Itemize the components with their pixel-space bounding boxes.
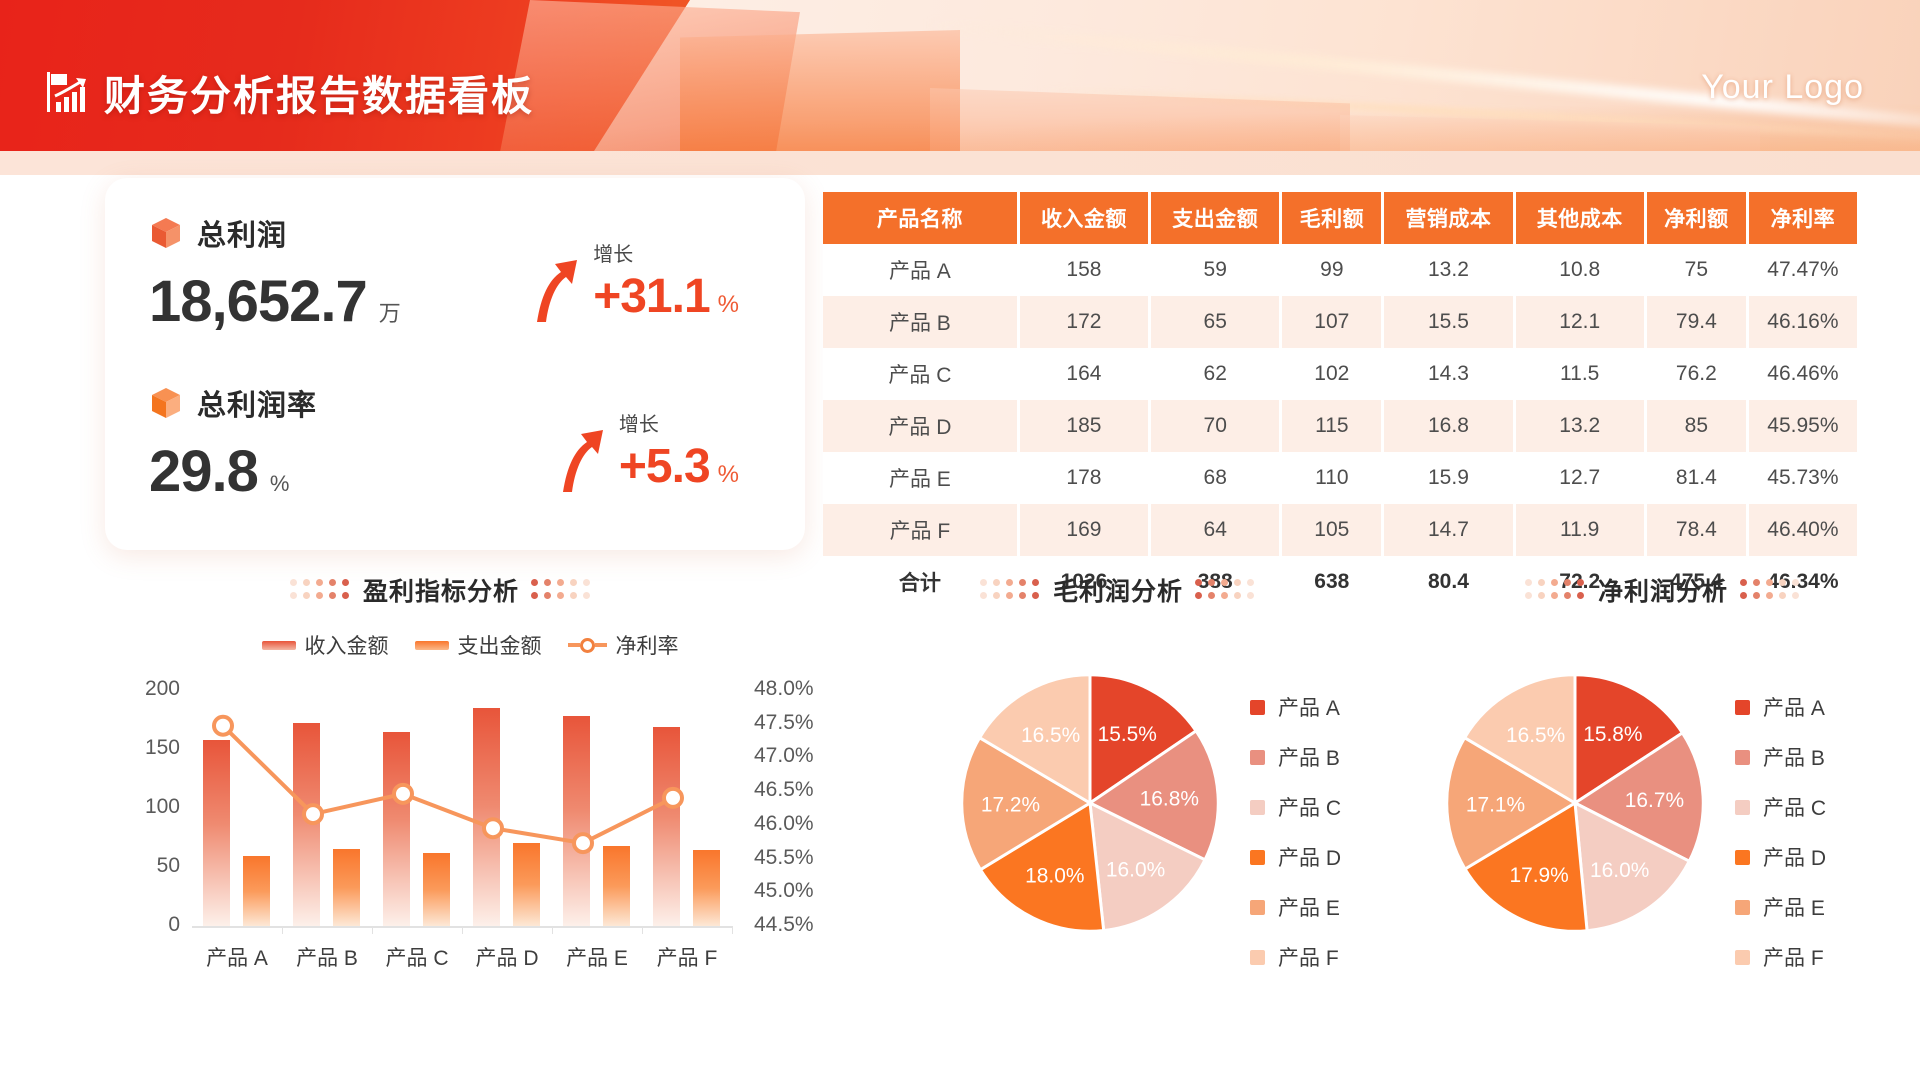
section-title-text: 净利润分析 (1598, 572, 1728, 608)
legend-label: 产品 F (1763, 942, 1824, 972)
legend-swatch (1735, 700, 1750, 715)
x-axis-label: 产品 B (275, 942, 379, 972)
legend-label: 收入金额 (305, 630, 389, 660)
table-cell: 14.7 (1384, 504, 1512, 556)
legend-label: 产品 D (1763, 842, 1826, 872)
x-axis-tick (282, 926, 283, 934)
table-header-cell: 收入金额 (1020, 192, 1148, 244)
legend-label: 净利率 (616, 630, 679, 660)
bar-income[interactable] (653, 727, 680, 926)
bar-income[interactable] (383, 732, 410, 926)
table-cell: 75 (1647, 244, 1746, 296)
table-cell: 78.4 (1647, 504, 1746, 556)
arrow-up-icon (525, 246, 583, 324)
net-profit-pie-chart: 15.8%16.7%16.0%17.9%17.1%16.5% 产品 A 产品 B… (1430, 630, 1920, 1010)
pie-legend-item[interactable]: 产品 D (1735, 842, 1826, 872)
bar-income[interactable] (293, 723, 320, 926)
pie-legend-item[interactable]: 产品 E (1735, 892, 1826, 922)
pie-canvas: 15.5%16.8%16.0%18.0%17.2%16.5% (955, 668, 1225, 938)
y2-axis-tick-label: 45.0% (754, 879, 830, 903)
pie-slice-label: 15.5% (1098, 723, 1157, 746)
y2-axis-tick-label: 46.5% (754, 778, 830, 802)
table-cell: 178 (1020, 452, 1148, 504)
table-header-cell: 净利率 (1749, 192, 1857, 244)
legend-label: 产品 E (1763, 892, 1825, 922)
pie-legend-item[interactable]: 产品 B (1250, 742, 1341, 772)
pie-legend-item[interactable]: 产品 C (1735, 792, 1826, 822)
table-cell: 64 (1151, 504, 1279, 556)
x-axis-tick (732, 926, 733, 934)
table-cell: 12.7 (1516, 452, 1644, 504)
legend-label: 产品 C (1278, 792, 1341, 822)
table-cell: 15.5 (1384, 296, 1512, 348)
dot-grid-icon (980, 579, 1041, 601)
bar-expense[interactable] (603, 846, 630, 926)
bar-expense[interactable] (333, 849, 360, 926)
legend-label: 产品 F (1278, 942, 1339, 972)
y-axis-tick-label: 50 (128, 854, 180, 878)
pie-slice-label: 17.1% (1466, 793, 1525, 816)
table-row: 产品 A158599913.210.87547.47% (823, 244, 1857, 296)
header-base-strip (0, 151, 1920, 175)
table-cell: 99 (1282, 244, 1381, 296)
pie-legend-item[interactable]: 产品 A (1735, 692, 1826, 722)
kpi-growth-label: 增长 (619, 408, 739, 437)
legend-swatch (1250, 850, 1265, 865)
kpi-growth: 增长 +5.3 % (551, 408, 739, 494)
table-cell: 11.9 (1516, 504, 1644, 556)
legend-swatch (1735, 850, 1750, 865)
bar-income[interactable] (563, 716, 590, 926)
legend-label: 产品 B (1763, 742, 1825, 772)
table-cell: 105 (1282, 504, 1381, 556)
table-cell: 68 (1151, 452, 1279, 504)
table-cell: 45.95% (1749, 400, 1857, 452)
table-cell: 107 (1282, 296, 1381, 348)
pie-svg: 15.8%16.7%16.0%17.9%17.1%16.5% (1440, 668, 1710, 938)
legend-swatch (1250, 900, 1265, 915)
pie-legend: 产品 A 产品 B 产品 C 产品 D 产品 E 产品 F (1735, 692, 1826, 972)
profit-indicator-chart: 收入金额 支出金额 净利率 05010015020044.5%45.0%45.5… (120, 630, 820, 1010)
table-row: 产品 C1646210214.311.576.246.46% (823, 348, 1857, 400)
table-header-row: 产品名称收入金额支出金额毛利额营销成本其他成本净利额净利率 (823, 192, 1857, 244)
pie-slice-label: 16.5% (1506, 724, 1565, 747)
table-header-cell: 净利额 (1647, 192, 1746, 244)
legend-swatch (1250, 700, 1265, 715)
legend-item[interactable]: 净利率 (568, 630, 679, 660)
bar-income[interactable] (473, 708, 500, 926)
bar-income[interactable] (203, 740, 230, 926)
pie-slice-label: 16.7% (1625, 789, 1684, 812)
pie-slice-label: 15.8% (1583, 723, 1642, 746)
table-cell: 47.47% (1749, 244, 1857, 296)
kpi-growth-value-row: +5.3 % (619, 439, 739, 494)
kpi-value: 29.8 (149, 438, 258, 505)
table-cell: 638 (1282, 556, 1381, 608)
cube-icon (149, 386, 183, 420)
pie-slice-label: 16.0% (1590, 859, 1649, 882)
table-cell: 产品 F (823, 504, 1017, 556)
kpi-value: 18,652.7 (149, 268, 367, 335)
pie-slice-label: 17.9% (1509, 864, 1568, 887)
table-cell: 81.4 (1647, 452, 1746, 504)
table-cell: 产品 D (823, 400, 1017, 452)
table-cell: 185 (1020, 400, 1148, 452)
pie-legend-item[interactable]: 产品 F (1735, 942, 1826, 972)
bar-expense[interactable] (513, 843, 540, 926)
table-cell: 59 (1151, 244, 1279, 296)
x-axis-tick (552, 926, 553, 934)
table-cell: 产品 C (823, 348, 1017, 400)
chart-legend: 收入金额 支出金额 净利率 (120, 630, 820, 660)
kpi-unit: % (270, 471, 290, 497)
table-body: 产品 A158599913.210.87547.47%产品 B172651071… (823, 244, 1857, 608)
legend-label: 产品 A (1763, 692, 1825, 722)
table-cell: 产品 B (823, 296, 1017, 348)
legend-swatch (1250, 750, 1265, 765)
legend-swatch (262, 641, 296, 650)
table-row: 产品 B1726510715.512.179.446.16% (823, 296, 1857, 348)
kpi-growth: 增长 +31.1 % (525, 238, 739, 324)
table-cell: 10.8 (1516, 244, 1644, 296)
kpi-label: 总利润 (197, 212, 287, 254)
x-axis-label: 产品 D (455, 942, 559, 972)
legend-label: 产品 E (1278, 892, 1340, 922)
table-cell: 158 (1020, 244, 1148, 296)
table-cell: 65 (1151, 296, 1279, 348)
table-cell: 169 (1020, 504, 1148, 556)
table-cell: 79.4 (1647, 296, 1746, 348)
kpi-growth-text: 增长 +31.1 % (593, 238, 739, 324)
product-financials-table: 产品名称收入金额支出金额毛利额营销成本其他成本净利额净利率 产品 A158599… (820, 192, 1860, 608)
table-cell: 产品 A (823, 244, 1017, 296)
table-cell: 产品 E (823, 452, 1017, 504)
pie-legend-item[interactable]: 产品 B (1735, 742, 1826, 772)
gross-profit-pie-chart: 15.5%16.8%16.0%18.0%17.2%16.5% 产品 A 产品 B… (945, 630, 1505, 1010)
section-title-profit-indicators: 盈利指标分析 (290, 572, 592, 608)
legend-item[interactable]: 收入金额 (262, 630, 389, 660)
pie-slice-label: 16.8% (1140, 788, 1199, 811)
section-title-gross-profit: 毛利润分析 (980, 572, 1256, 608)
table-row: 产品 F1696410514.711.978.446.40% (823, 504, 1857, 556)
x-axis-label: 产品 A (185, 942, 289, 972)
section-title-text: 盈利指标分析 (363, 572, 519, 608)
page-title: 财务分析报告数据看板 (104, 62, 534, 122)
table-cell: 115 (1282, 400, 1381, 452)
bar-expense[interactable] (243, 856, 270, 926)
x-axis-tick (462, 926, 463, 934)
legend-label: 产品 D (1278, 842, 1341, 872)
table-cell: 46.40% (1749, 504, 1857, 556)
table-cell: 11.5 (1516, 348, 1644, 400)
y2-axis-tick-label: 44.5% (754, 913, 830, 937)
y-axis-tick-label: 0 (128, 913, 180, 937)
dot-grid-icon (1740, 579, 1801, 601)
pie-slice-label: 16.5% (1021, 724, 1080, 747)
dot-grid-icon (290, 579, 351, 601)
arrow-up-icon (551, 416, 609, 494)
bar-expense[interactable] (693, 850, 720, 926)
table-cell: 102 (1282, 348, 1381, 400)
table-cell: 46.16% (1749, 296, 1857, 348)
section-title-net-profit: 净利润分析 (1525, 572, 1801, 608)
legend-swatch (1250, 800, 1265, 815)
pie-slice-label: 18.0% (1025, 864, 1084, 887)
table-row: 产品 E1786811015.912.781.445.73% (823, 452, 1857, 504)
kpi-unit: 万 (379, 296, 401, 328)
brand-logo: Your Logo (1701, 68, 1864, 107)
pie-slice-label: 16.0% (1106, 858, 1165, 881)
legend-item[interactable]: 支出金额 (415, 630, 542, 660)
kpi-total-profit-rate: 总利润率 29.8 % 增长 +5.3 % (149, 382, 765, 552)
pie-legend-item[interactable]: 产品 D (1250, 842, 1341, 872)
legend-label: 产品 A (1278, 692, 1340, 722)
table-cell: 110 (1282, 452, 1381, 504)
chart-plot-area: 05010015020044.5%45.0%45.5%46.0%46.5%47.… (120, 678, 820, 968)
table-cell: 12.1 (1516, 296, 1644, 348)
table-header-cell: 毛利额 (1282, 192, 1381, 244)
growth-chart-flag-icon (44, 70, 90, 114)
table-cell: 13.2 (1384, 244, 1512, 296)
table-cell: 13.2 (1516, 400, 1644, 452)
table-cell: 62 (1151, 348, 1279, 400)
cube-icon (149, 216, 183, 250)
x-axis-label: 产品 F (635, 942, 739, 972)
table-row: 产品 D1857011516.813.28545.95% (823, 400, 1857, 452)
table-cell: 70 (1151, 400, 1279, 452)
table-cell: 15.9 (1384, 452, 1512, 504)
legend-label: 产品 B (1278, 742, 1340, 772)
kpi-growth-value-row: +31.1 % (593, 269, 739, 324)
kpi-growth-text: 增长 +5.3 % (619, 408, 739, 494)
pie-svg: 15.5%16.8%16.0%18.0%17.2%16.5% (955, 668, 1225, 938)
dot-grid-icon (531, 579, 592, 601)
pie-legend-item[interactable]: 产品 A (1250, 692, 1341, 722)
table-cell: 85 (1647, 400, 1746, 452)
page-title-wrap: 财务分析报告数据看板 (44, 62, 534, 122)
section-title-text: 毛利润分析 (1053, 572, 1183, 608)
table-header-cell: 营销成本 (1384, 192, 1512, 244)
legend-swatch (1735, 900, 1750, 915)
legend-swatch (1250, 950, 1265, 965)
table-cell: 46.46% (1749, 348, 1857, 400)
table-cell: 76.2 (1647, 348, 1746, 400)
kpi-growth-label: 增长 (593, 238, 739, 267)
kpi-card: 总利润 18,652.7 万 增长 +31.1 % (105, 178, 805, 550)
pie-legend: 产品 A 产品 B 产品 C 产品 D 产品 E 产品 F (1250, 692, 1341, 972)
y-axis-tick-label: 200 (128, 677, 180, 701)
x-axis-tick (642, 926, 643, 934)
pie-legend-item[interactable]: 产品 C (1250, 792, 1341, 822)
y-axis-tick-label: 100 (128, 795, 180, 819)
y2-axis-tick-label: 47.0% (754, 744, 830, 768)
pie-slice-label: 17.2% (981, 794, 1040, 817)
pie-canvas: 15.8%16.7%16.0%17.9%17.1%16.5% (1440, 668, 1710, 938)
table-cell: 14.3 (1384, 348, 1512, 400)
legend-swatch (415, 641, 449, 650)
table-header-cell: 支出金额 (1151, 192, 1279, 244)
table-header-cell: 产品名称 (823, 192, 1017, 244)
y2-axis-tick-label: 46.0% (754, 812, 830, 836)
table-header-cell: 其他成本 (1516, 192, 1644, 244)
table-cell: 80.4 (1384, 556, 1512, 608)
kpi-growth-unit: % (718, 461, 739, 489)
kpi-label: 总利润率 (197, 382, 317, 424)
kpi-growth-value: +31.1 (593, 269, 709, 324)
table-cell: 172 (1020, 296, 1148, 348)
header-glass-panel-b (680, 30, 960, 155)
kpi-total-profit: 总利润 18,652.7 万 增长 +31.1 % (149, 212, 765, 382)
legend-line-marker (568, 638, 607, 653)
table: 产品名称收入金额支出金额毛利额营销成本其他成本净利额净利率 产品 A158599… (820, 192, 1860, 608)
dot-grid-icon (1525, 579, 1586, 601)
x-axis-tick (372, 926, 373, 934)
y2-axis-tick-label: 45.5% (754, 846, 830, 870)
x-axis-label: 产品 E (545, 942, 649, 972)
page-header: 财务分析报告数据看板 Your Logo (0, 0, 1920, 175)
legend-swatch (1735, 950, 1750, 965)
y-axis-tick-label: 150 (128, 736, 180, 760)
legend-label: 支出金额 (458, 630, 542, 660)
legend-swatch (1735, 750, 1750, 765)
dot-grid-icon (1195, 579, 1256, 601)
pie-legend-item[interactable]: 产品 F (1250, 942, 1341, 972)
y2-axis-tick-label: 48.0% (754, 677, 830, 701)
x-axis-label: 产品 C (365, 942, 469, 972)
table-cell: 164 (1020, 348, 1148, 400)
legend-swatch (1735, 800, 1750, 815)
y2-axis-tick-label: 47.5% (754, 711, 830, 735)
bar-expense[interactable] (423, 853, 450, 926)
table-cell: 16.8 (1384, 400, 1512, 452)
table-cell: 45.73% (1749, 452, 1857, 504)
pie-legend-item[interactable]: 产品 E (1250, 892, 1341, 922)
kpi-growth-value: +5.3 (619, 439, 710, 494)
kpi-growth-unit: % (718, 291, 739, 319)
legend-label: 产品 C (1763, 792, 1826, 822)
